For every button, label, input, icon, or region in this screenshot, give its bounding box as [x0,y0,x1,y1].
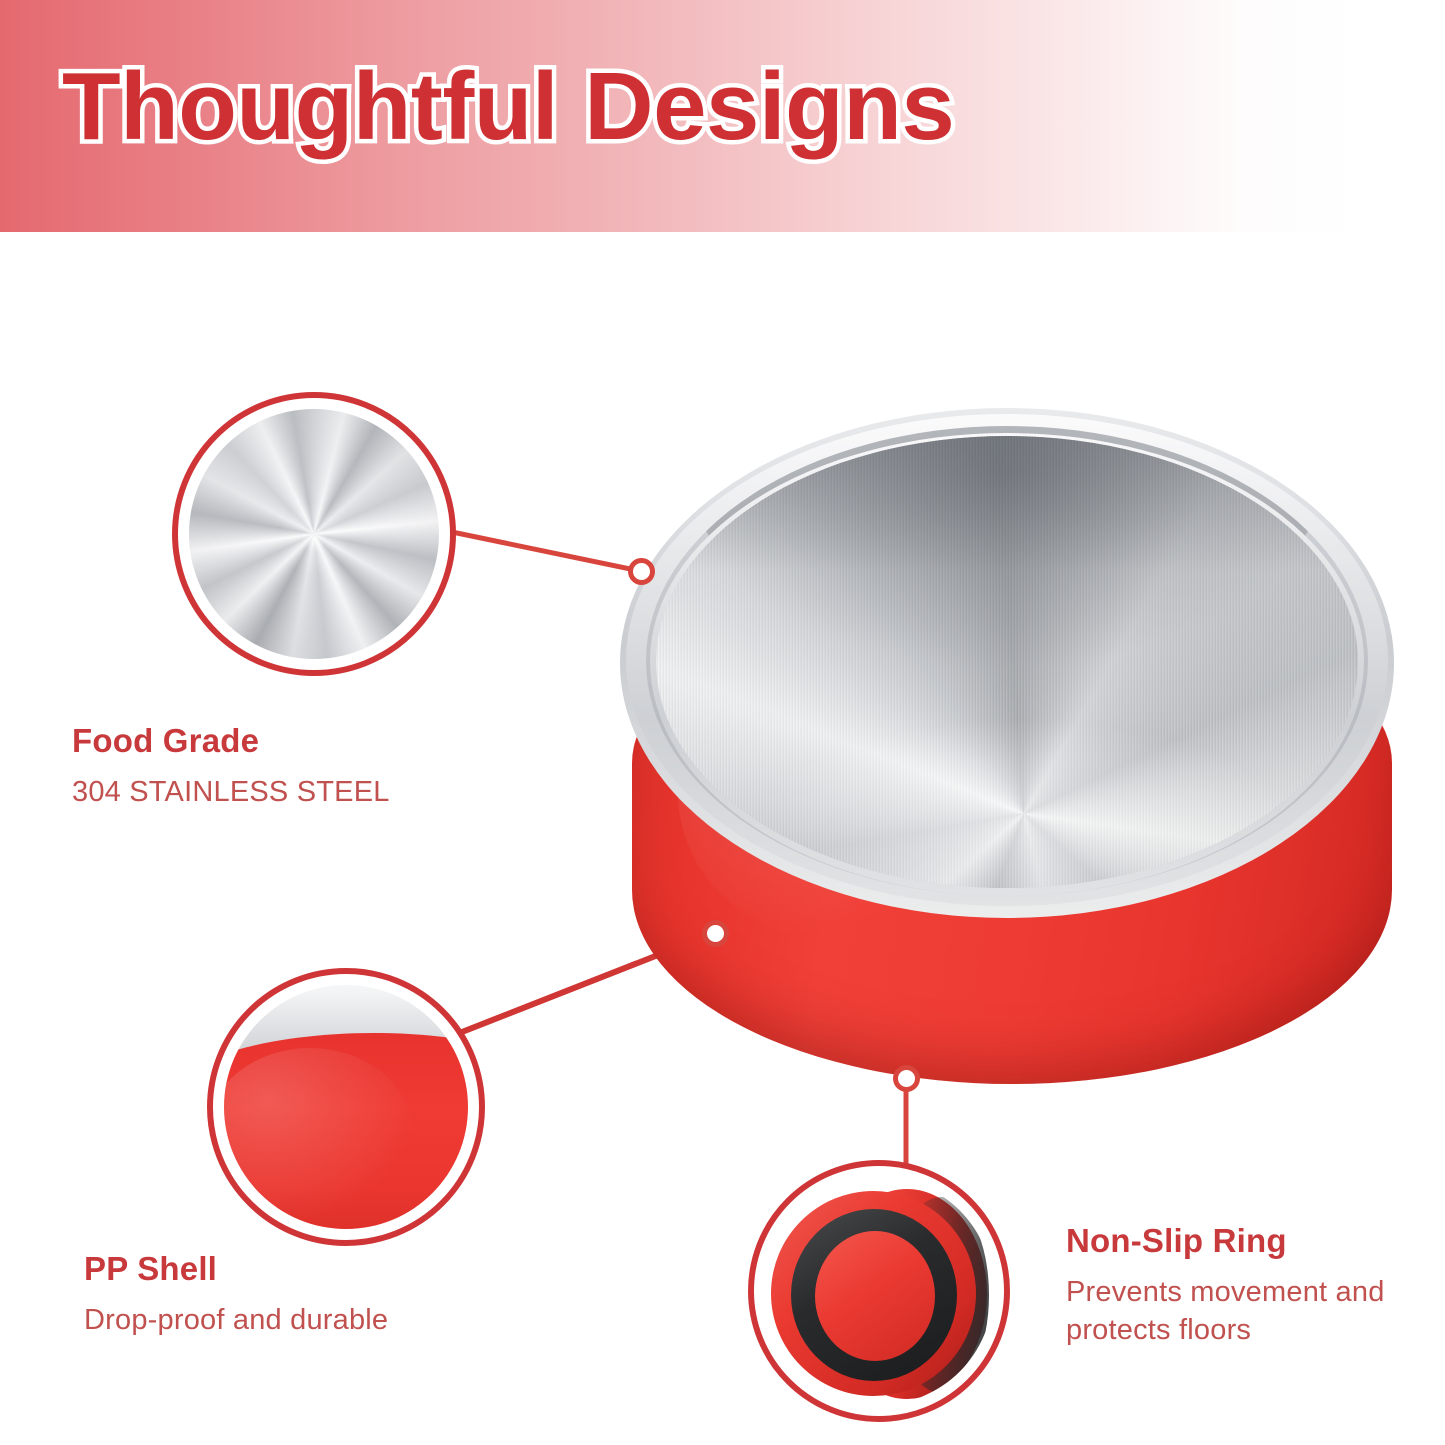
red-pp-surface [224,1033,468,1229]
bowl-inner-lip [646,426,1368,896]
marker-ring-pp-shell [702,920,729,947]
label-desc-non-slip-line1: Prevents movement and [1066,1276,1385,1308]
label-desc-non-slip-line2: protects floors [1066,1314,1251,1346]
callout-image-pp-shell [224,985,468,1229]
callout-circle-food-grade [172,392,456,676]
label-block-pp-shell: PP Shell Drop-proof and durable [84,1250,514,1340]
header-banner: Thoughtful Designs [0,0,1445,232]
callout-circle-pp-shell [207,968,485,1246]
callout-circle-non-slip [748,1160,1010,1422]
callout-image-non-slip [765,1177,993,1405]
label-title-pp-shell: PP Shell [84,1250,514,1288]
label-desc-pp-shell: Drop-proof and durable [84,1302,514,1340]
marker-ring-non-slip [893,1065,920,1092]
page-title: Thoughtful Designs [62,52,954,162]
label-desc-non-slip: Prevents movement and protects floors [1066,1274,1445,1349]
label-desc-food-grade: 304 STAINLESS STEEL [72,774,502,812]
marker-ring-food-grade [628,558,655,585]
pp-shell-closeup-scene [224,985,468,1229]
label-title-non-slip: Non-Slip Ring [1066,1222,1445,1260]
label-block-non-slip: Non-Slip Ring Prevents movement and prot… [1066,1222,1445,1349]
callout-image-food-grade [189,409,439,659]
label-title-food-grade: Food Grade [72,722,502,760]
base-red-center [815,1231,935,1361]
non-slip-base-scene [765,1177,993,1405]
brushed-steel-disc-icon [189,409,439,659]
infographic-page: Thoughtful Designs [0,0,1445,1445]
label-block-food-grade: Food Grade 304 STAINLESS STEEL [72,722,502,812]
product-bowl-image [612,392,1402,1092]
